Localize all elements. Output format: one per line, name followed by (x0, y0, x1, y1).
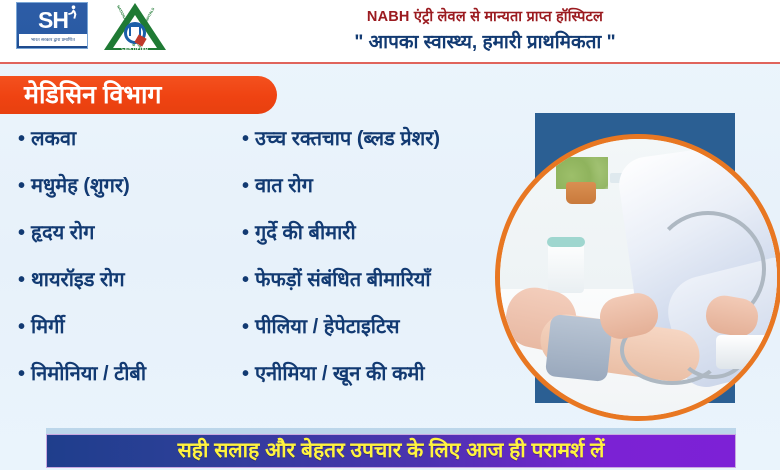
services-list: • लकवा • मधुमेह (शुगर) • हृदय रोग • थायर… (0, 126, 530, 416)
list-item: • लकवा (18, 126, 246, 173)
list-item: • उच्च रक्तचाप (ब्लड प्रेशर) (242, 126, 532, 173)
call-to-action-banner: सही सलाह और बेहतर उपचार के लिए आज ही परा… (46, 434, 736, 468)
runner-icon (67, 5, 77, 19)
iso-certification-logo: NATIONAL ACCREDITATION BOARD FOR HOSPITA… (104, 3, 166, 53)
bullet-icon: • (18, 126, 31, 152)
service-label: वात रोग (255, 173, 313, 199)
nabh-logo-mark: SH (17, 5, 88, 35)
header-text-block: NABH एंट्री लेवल से मान्यता प्राप्त हॉस्… (190, 0, 780, 63)
plant-pot (566, 182, 596, 204)
service-label: फेफड़ों संबंधित बीमारियाँ (255, 267, 431, 293)
bullet-icon: • (18, 173, 31, 199)
bullet-icon: • (18, 220, 31, 246)
service-label: उच्च रक्तचाप (ब्लड प्रेशर) (255, 126, 440, 152)
list-item: • एनीमिया / खून की कमी (242, 361, 532, 408)
bullet-icon: • (18, 267, 31, 293)
iso-certified-label: CERTIFIED (104, 46, 166, 51)
list-item: • मिर्गी (18, 314, 246, 361)
service-label: हृदय रोग (31, 220, 94, 246)
jar-lid (547, 237, 585, 247)
service-label: गुर्दे की बीमारी (255, 220, 356, 246)
list-item: • वात रोग (242, 173, 532, 220)
service-label: निमोनिया / टीबी (31, 361, 146, 387)
service-label: पीलिया / हेपेटाइटिस (255, 314, 400, 340)
tagline: " आपका स्वास्थ्य, हमारी प्राथमिकता " (354, 29, 615, 56)
bp-monitor-device (716, 335, 780, 369)
bullet-icon: • (18, 361, 31, 387)
doctor-measuring-blood-pressure-photo (495, 134, 780, 421)
nabh-accreditation-logo: SH भारत सरकार द्वारा प्रमाणित (16, 2, 88, 49)
services-right-column: • उच्च रक्तचाप (ब्लड प्रेशर) • वात रोग •… (242, 126, 532, 408)
service-label: थायरॉइड रोग (31, 267, 125, 293)
poster-header: SH भारत सरकार द्वारा प्रमाणित NATIONAL A… (0, 0, 780, 63)
medicine-department-poster: SH भारत सरकार द्वारा प्रमाणित NATIONAL A… (0, 0, 780, 470)
list-item: • निमोनिया / टीबी (18, 361, 246, 408)
list-item: • हृदय रोग (18, 220, 246, 267)
department-banner: मेडिसिन विभाग (0, 76, 277, 114)
service-label: मधुमेह (शुगर) (31, 173, 130, 199)
services-left-column: • लकवा • मधुमेह (शुगर) • हृदय रोग • थायर… (18, 126, 246, 408)
header-divider (0, 62, 780, 64)
bullet-icon: • (242, 267, 255, 293)
list-item: • पीलिया / हेपेटाइटिस (242, 314, 532, 361)
service-label: मिर्गी (31, 314, 65, 340)
bullet-icon: • (242, 173, 255, 199)
jar (548, 241, 584, 293)
bullet-icon: • (242, 314, 255, 340)
accreditation-line: NABH एंट्री लेवल से मान्यता प्राप्त हॉस्… (367, 7, 603, 27)
nabh-logo-caption: भारत सरकार द्वारा प्रमाणित (19, 34, 87, 46)
department-title: मेडिसिन विभाग (0, 76, 162, 114)
list-item: • फेफड़ों संबंधित बीमारियाँ (242, 267, 532, 314)
service-label: लकवा (31, 126, 76, 152)
service-label: एनीमिया / खून की कमी (255, 361, 425, 387)
call-to-action-text: सही सलाह और बेहतर उपचार के लिए आज ही परा… (178, 434, 605, 468)
bullet-icon: • (242, 220, 255, 246)
list-item: • थायरॉइड रोग (18, 267, 246, 314)
bullet-icon: • (18, 314, 31, 340)
list-item: • गुर्दे की बीमारी (242, 220, 532, 267)
list-item: • मधुमेह (शुगर) (18, 173, 246, 220)
bullet-icon: • (242, 361, 255, 387)
bullet-icon: • (242, 126, 255, 152)
